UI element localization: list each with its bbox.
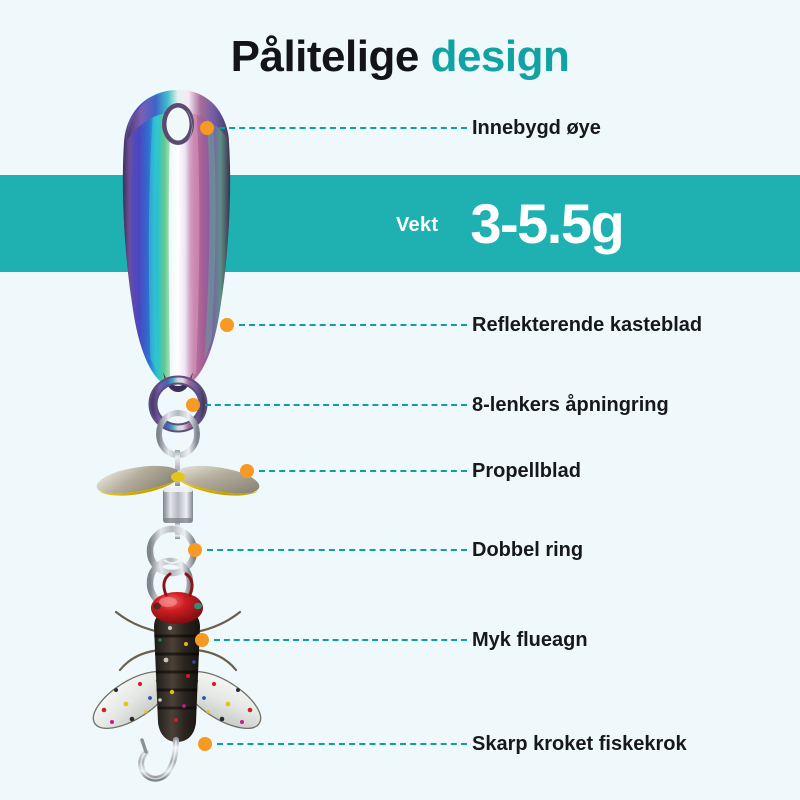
barrel-bead bbox=[163, 487, 193, 523]
fly-eye-left bbox=[153, 603, 161, 609]
callout-label: Myk flueagn bbox=[472, 629, 588, 652]
page-title-accent: design bbox=[431, 32, 570, 81]
callout-dot-icon bbox=[240, 464, 254, 478]
fly-wing-left bbox=[85, 661, 180, 740]
callout-leader-line bbox=[207, 549, 467, 551]
spoon-lug-accent bbox=[168, 378, 186, 385]
callout-dot-icon bbox=[200, 121, 214, 135]
spec-banner-value: 3-5.5g bbox=[470, 196, 623, 252]
spoon-lower-lip bbox=[163, 372, 193, 392]
callout-6[interactable]: Myk flueagn bbox=[195, 625, 588, 655]
page-title: Pålitelige design bbox=[0, 34, 800, 80]
page-title-primary: Pålitelige bbox=[231, 32, 431, 81]
fly-wing-right bbox=[175, 661, 270, 740]
callout-label: Reflekterende kasteblad bbox=[472, 314, 702, 337]
callout-dot-icon bbox=[198, 737, 212, 751]
callout-leader-line bbox=[214, 639, 467, 641]
double-ring-bottom bbox=[150, 561, 190, 605]
callout-leader-line bbox=[219, 127, 467, 129]
callout-4[interactable]: Propellblad bbox=[240, 456, 581, 486]
callout-label: Dobbel ring bbox=[472, 539, 583, 562]
callout-dot-icon bbox=[188, 543, 202, 557]
fly-lure-head bbox=[151, 592, 203, 624]
fly-lure-body bbox=[154, 614, 200, 742]
callout-leader-line bbox=[217, 743, 467, 745]
callout-label: Propellblad bbox=[472, 460, 581, 483]
callout-label: Innebygd øye bbox=[472, 117, 601, 140]
infographic-canvas: Pålitelige design bbox=[0, 0, 800, 800]
built-in-eye-ring bbox=[162, 103, 194, 145]
callout-leader-line bbox=[239, 324, 467, 326]
propeller-hub bbox=[171, 472, 185, 482]
callout-label: 8-lenkers åpningring bbox=[472, 394, 669, 417]
callout-leader-line bbox=[205, 404, 467, 406]
callout-1[interactable]: Innebygd øye bbox=[200, 113, 601, 143]
callout-dot-icon bbox=[186, 398, 200, 412]
callout-5[interactable]: Dobbel ring bbox=[188, 535, 583, 565]
fishing-hook bbox=[141, 740, 176, 779]
hook-point bbox=[142, 740, 146, 752]
fly-eye-right bbox=[194, 603, 202, 609]
built-in-eye-hole bbox=[167, 108, 190, 141]
callout-7[interactable]: Skarp kroket fiskekrok bbox=[198, 729, 687, 759]
callout-2[interactable]: Reflekterende kasteblad bbox=[220, 310, 702, 340]
callout-dot-icon bbox=[195, 633, 209, 647]
spec-banner: Vekt 3-5.5g bbox=[0, 175, 800, 272]
callout-dot-icon bbox=[220, 318, 234, 332]
callout-leader-line bbox=[259, 470, 467, 472]
propeller-group bbox=[95, 450, 262, 539]
spec-banner-label: Vekt bbox=[396, 214, 438, 237]
callout-label: Skarp kroket fiskekrok bbox=[472, 733, 687, 756]
callout-3[interactable]: 8-lenkers åpningring bbox=[186, 390, 669, 420]
propeller-blade-left bbox=[95, 461, 182, 500]
